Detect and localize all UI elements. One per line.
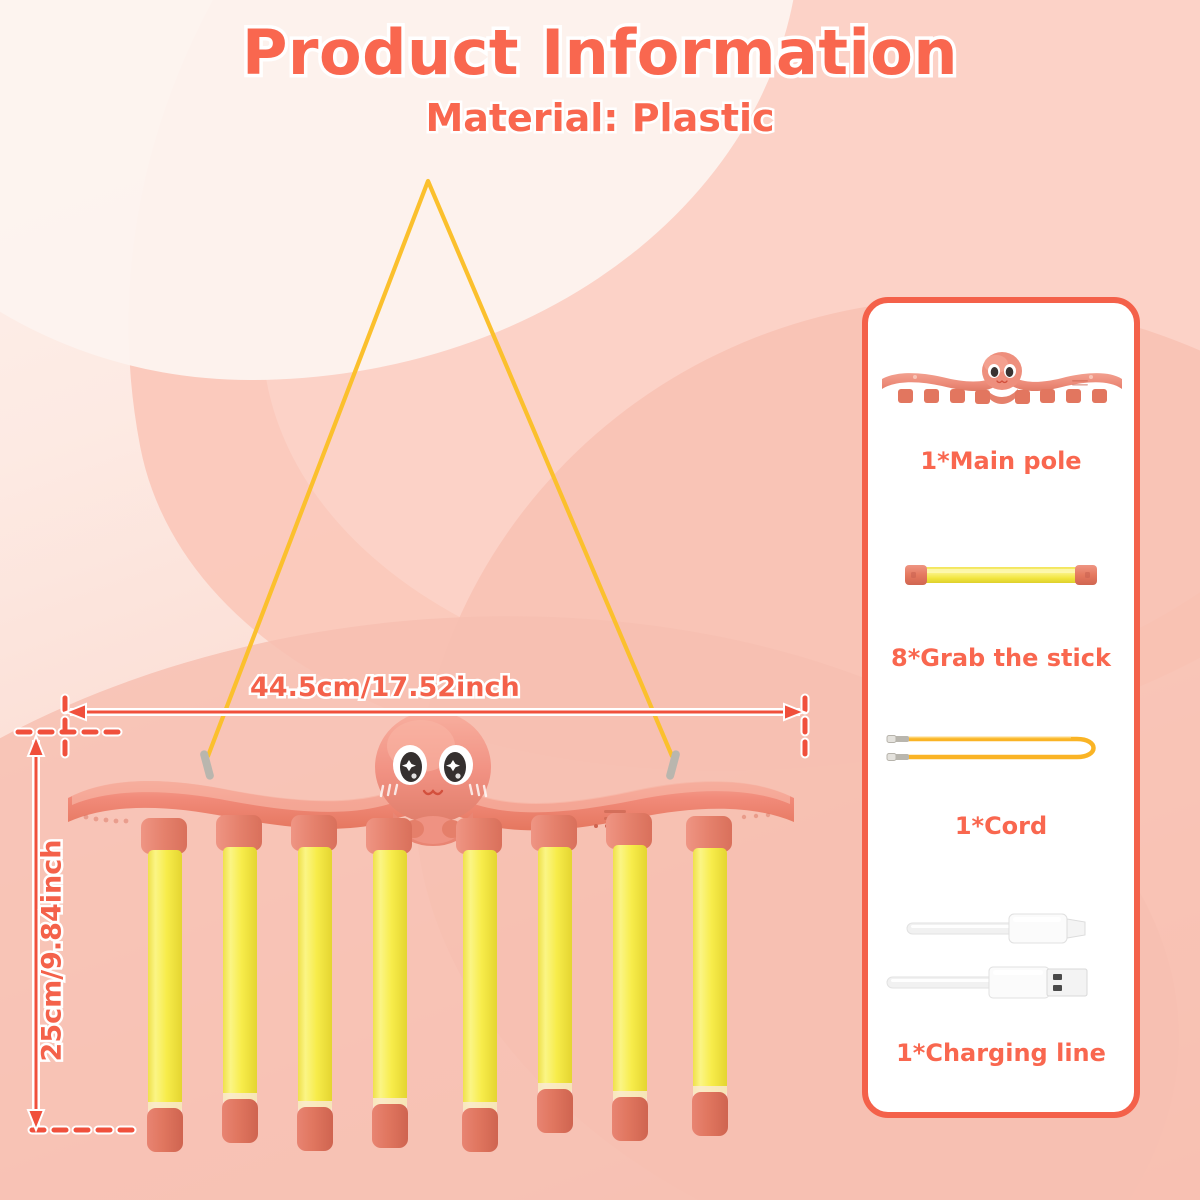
product-illustration <box>0 150 860 1160</box>
material-subtitle: Material: Plastic <box>0 96 1200 140</box>
grab-stick <box>291 815 337 1151</box>
page-title-text: Product Information <box>242 16 958 89</box>
material-subtitle-text: Material: Plastic <box>425 96 774 140</box>
part-label-grab-stick: 8*Grab the stick <box>868 644 1134 672</box>
height-dimension-label: 25cm/9.84inch <box>37 836 68 1066</box>
part-item-main-pole: 1*Main pole <box>868 349 1134 475</box>
grab-stick <box>141 818 187 1152</box>
grab-stick <box>216 815 262 1143</box>
grab-stick <box>456 818 502 1152</box>
grab-stick <box>686 816 732 1136</box>
cord-icon <box>881 727 1121 769</box>
width-dimension-label: 44.5cm/17.52inch <box>250 672 520 703</box>
charging-line-icon <box>881 903 1121 1023</box>
micro-usb-connector <box>907 914 1085 943</box>
grab-stick-icon <box>901 558 1101 592</box>
part-item-grab-stick: 8*Grab the stick <box>868 558 1134 672</box>
usb-a-connector <box>887 967 1087 998</box>
part-label-cord: 1*Cord <box>868 812 1134 840</box>
parts-list-panel: 1*Main pole <box>862 297 1140 1118</box>
part-item-cord: 1*Cord <box>868 727 1134 840</box>
grab-sticks-group <box>141 813 732 1152</box>
page-title: Product Information <box>0 16 1200 89</box>
part-label-main-pole: 1*Main pole <box>868 447 1134 475</box>
part-item-charging-line: 1*Charging line <box>868 903 1134 1067</box>
product-info-image: Product Information Material: Plastic <box>0 0 1200 1200</box>
main-pole-icon <box>876 349 1126 413</box>
part-label-charging-line: 1*Charging line <box>868 1039 1134 1067</box>
grab-stick <box>606 813 652 1141</box>
grab-stick <box>366 818 412 1148</box>
grab-stick <box>531 815 577 1133</box>
